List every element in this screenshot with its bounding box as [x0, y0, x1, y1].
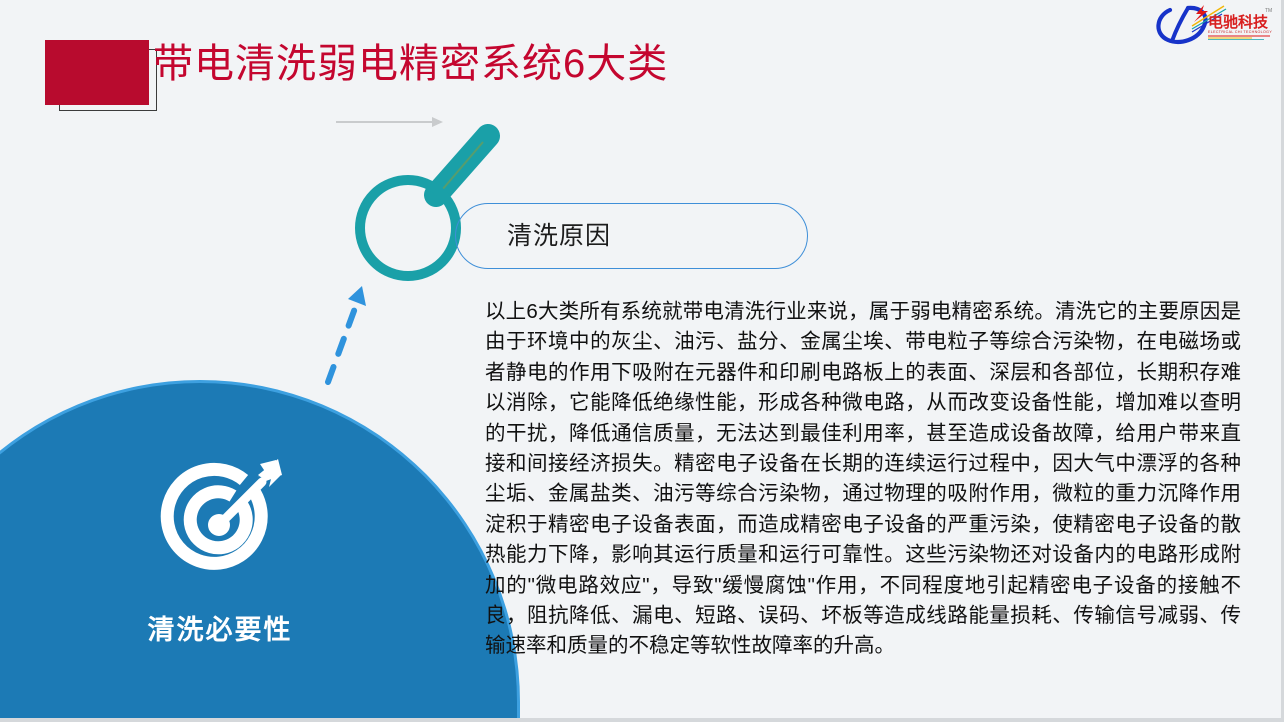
slide-canvas: 电驰科技 ELECTRICAL CHI TECHNOLOGY TM 带电清洗弱电… — [0, 0, 1284, 722]
body-paragraph: 以上6大类所有系统就带电清洗行业来说，属于弱电精密系统。清洗它的主要原因是由于环… — [485, 297, 1241, 662]
logo-trademark: TM — [1265, 8, 1272, 14]
body-text-block: 以上6大类所有系统就带电清洗行业来说，属于弱电精密系统。清洗它的主要原因是由于环… — [485, 297, 1241, 662]
logo-artwork: 电驰科技 ELECTRICAL CHI TECHNOLOGY TM — [1152, 2, 1278, 46]
dashed-arrow-artwork — [310, 272, 400, 397]
target-artwork — [160, 455, 285, 580]
pill-label: 清洗原因 — [507, 221, 611, 251]
page-title: 带电清洗弱电精密系统6大类 — [153, 38, 668, 90]
logo-english-text: ELECTRICAL CHI TECHNOLOGY — [1208, 30, 1272, 34]
logo-chinese-text: 电驰科技 — [1208, 13, 1269, 31]
title-red-square — [45, 40, 149, 105]
company-logo: 电驰科技 ELECTRICAL CHI TECHNOLOGY TM — [1152, 2, 1278, 46]
dome-label: 清洗必要性 — [0, 608, 440, 647]
dashed-arrow-up-right-icon — [310, 272, 400, 397]
target-with-arrow-icon — [160, 455, 285, 580]
